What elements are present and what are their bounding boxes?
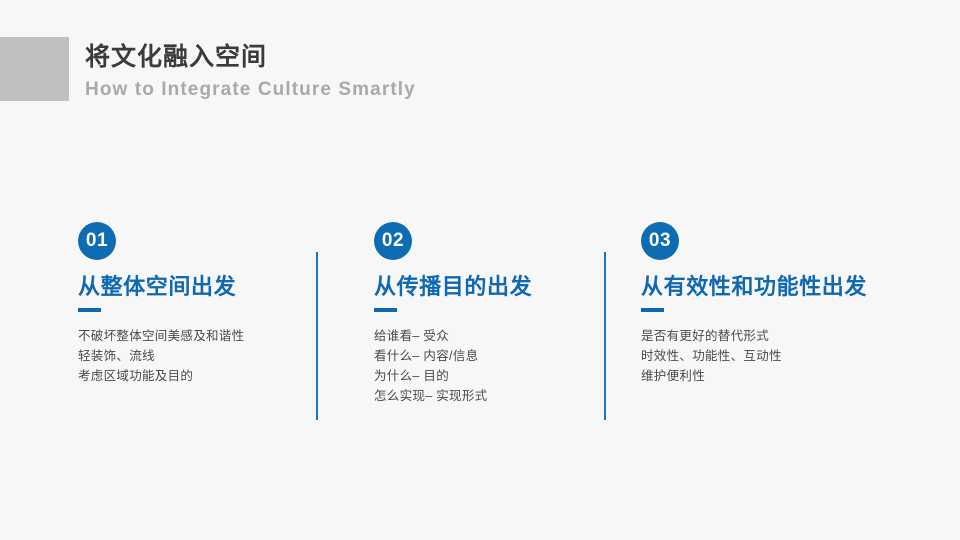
column-heading-01: 从整体空间出发: [78, 273, 293, 301]
column-number-badge-02: 02: [374, 222, 412, 260]
column-02: 02 从传播目的出发 给谁看– 受众 看什么– 内容/信息 为什么– 目的 怎么…: [374, 222, 589, 406]
page-subtitle: How to Integrate Culture Smartly: [85, 76, 416, 104]
slide-canvas: 将文化融入空间 How to Integrate Culture Smartly…: [0, 0, 960, 540]
columns-container: 01 从整体空间出发 不破坏整体空间美感及和谐性 轻装饰、流线 考虑区域功能及目…: [0, 222, 960, 432]
header-text-group: 将文化融入空间 How to Integrate Culture Smartly: [85, 40, 416, 104]
column-body-02: 给谁看– 受众 看什么– 内容/信息 为什么– 目的 怎么实现– 实现形式: [374, 326, 589, 406]
column-number-badge-01: 01: [78, 222, 116, 260]
body-line: 维护便利性: [641, 366, 901, 386]
page-title: 将文化融入空间: [85, 40, 416, 74]
body-line: 考虑区域功能及目的: [78, 366, 293, 386]
body-line: 时效性、功能性、互动性: [641, 346, 901, 366]
column-body-01: 不破坏整体空间美感及和谐性 轻装饰、流线 考虑区域功能及目的: [78, 326, 293, 386]
heading-underline-01: [78, 308, 101, 312]
body-line: 怎么实现– 实现形式: [374, 386, 589, 406]
column-01: 01 从整体空间出发 不破坏整体空间美感及和谐性 轻装饰、流线 考虑区域功能及目…: [78, 222, 293, 386]
column-03: 03 从有效性和功能性出发 是否有更好的替代形式 时效性、功能性、互动性 维护便…: [641, 222, 901, 386]
column-heading-02: 从传播目的出发: [374, 273, 589, 301]
body-line: 给谁看– 受众: [374, 326, 589, 346]
body-line: 为什么– 目的: [374, 366, 589, 386]
heading-underline-02: [374, 308, 397, 312]
column-heading-03: 从有效性和功能性出发: [641, 273, 901, 301]
body-line: 轻装饰、流线: [78, 346, 293, 366]
header-accent-block: [0, 37, 69, 101]
body-line: 是否有更好的替代形式: [641, 326, 901, 346]
column-number-badge-03: 03: [641, 222, 679, 260]
column-body-03: 是否有更好的替代形式 时效性、功能性、互动性 维护便利性: [641, 326, 901, 386]
heading-underline-03: [641, 308, 664, 312]
body-line: 不破坏整体空间美感及和谐性: [78, 326, 293, 346]
body-line: 看什么– 内容/信息: [374, 346, 589, 366]
